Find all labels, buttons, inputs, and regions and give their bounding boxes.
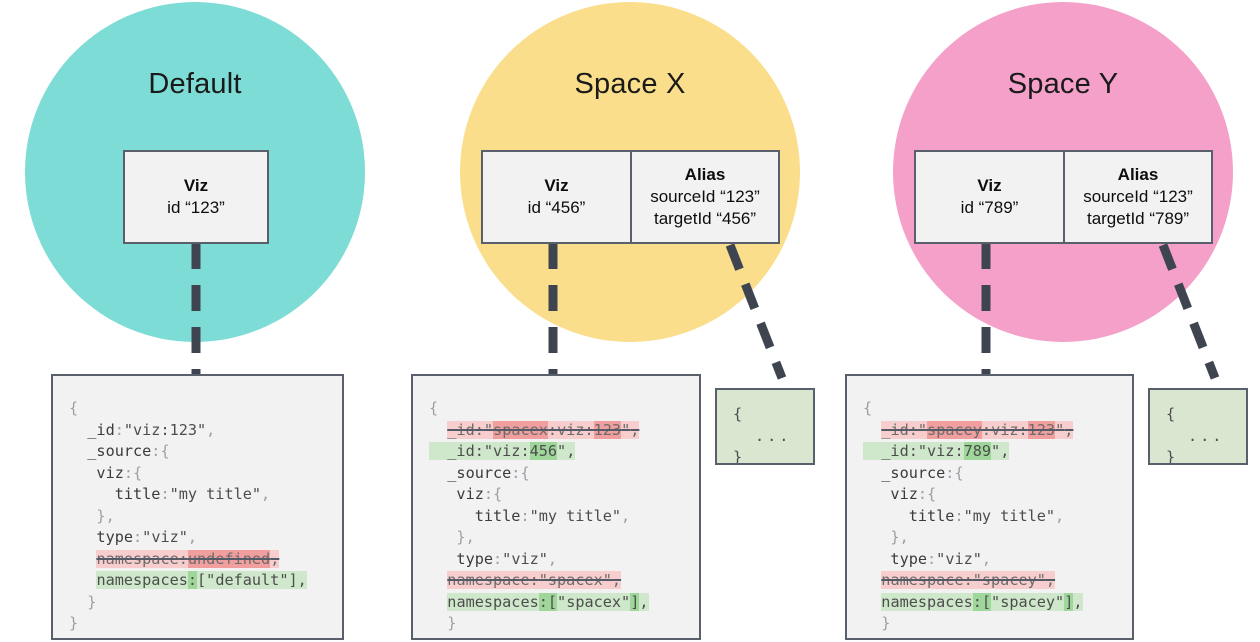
code-line: }, (413, 527, 699, 549)
code-token: : (179, 550, 188, 568)
alias-ellipsis: ... (1150, 426, 1246, 448)
code-token: "spacex" (539, 571, 612, 589)
code-token: " (484, 421, 493, 439)
code-line: }, (847, 527, 1132, 549)
code-token: : (160, 485, 169, 503)
code-line: } (53, 613, 342, 635)
code-line: namespaces:["default"], (53, 570, 342, 592)
code-token: "spacey" (991, 593, 1064, 611)
code-token: title (863, 507, 954, 525)
code-token: _id (881, 421, 908, 439)
entity-cell-alias[interactable]: Alias sourceId “123” targetId “789” (1063, 152, 1211, 242)
entity-detail-id: id “456” (528, 197, 586, 219)
code-token: : (964, 571, 973, 589)
code-token: , (621, 507, 630, 525)
code-token: namespaces (881, 593, 972, 611)
code-token: " (1055, 421, 1064, 439)
diagram-canvas: Default Space X Space Y Viz id “123” Viz… (0, 0, 1260, 642)
code-token: , (1073, 593, 1082, 611)
code-line: _id:"viz:456", (413, 441, 699, 463)
code-token: : (530, 571, 539, 589)
entity-detail-id: id “789” (961, 197, 1019, 219)
code-token: } (863, 614, 890, 632)
code-token: "viz" (142, 528, 188, 546)
code-token: , (261, 485, 270, 503)
entity-cell-viz[interactable]: Viz id “789” (916, 152, 1063, 242)
code-line: namespace:undefined, (53, 549, 342, 571)
code-token: : (909, 442, 918, 460)
entity-box-spacey[interactable]: Viz id “789” Alias sourceId “123” target… (914, 150, 1213, 244)
alias-open-brace: { (717, 404, 813, 426)
code-token: "viz: (484, 442, 530, 460)
code-token: ["default"] (197, 571, 298, 589)
entity-detail-id: id “123” (167, 197, 225, 219)
code-token: title (429, 507, 520, 525)
alias-doc-spacey[interactable]: { ... } (1148, 388, 1248, 465)
code-token: " (991, 442, 1000, 460)
code-token: }, (863, 528, 909, 546)
code-token (863, 593, 881, 611)
code-token: _id (863, 442, 909, 460)
code-token: } (429, 614, 456, 632)
code-line: type:"viz", (847, 549, 1132, 571)
entity-detail-targetid: targetId “789” (1087, 208, 1189, 230)
code-line: namespaces:["spacey"], (847, 592, 1132, 614)
code-token: , (630, 421, 639, 439)
code-token: title (69, 485, 160, 503)
code-token: , (1055, 507, 1064, 525)
code-line: _id:"viz:123", (53, 420, 342, 442)
code-line: namespaces:["spacex"], (413, 592, 699, 614)
code-line: _source:{ (53, 441, 342, 463)
code-token: :{ (124, 464, 142, 482)
code-token: , (270, 550, 279, 568)
code-token: : (539, 593, 548, 611)
code-token: : (188, 571, 197, 589)
code-token: _source (69, 442, 151, 460)
code-line: _id:"viz:789", (847, 441, 1132, 463)
code-token: , (1064, 421, 1073, 439)
code-token: _source (429, 464, 511, 482)
code-token: type (429, 550, 493, 568)
code-token: , (206, 421, 215, 439)
code-token: : (954, 507, 963, 525)
code-token: spacey (927, 421, 982, 439)
code-token: : (133, 528, 142, 546)
code-line: }, (53, 506, 342, 528)
code-line: _id:"spacex:viz:123", (413, 420, 699, 442)
code-token (863, 421, 881, 439)
space-label-spacex: Space X (460, 68, 800, 101)
code-line: namespace:"spacey", (847, 570, 1132, 592)
code-token: namespace (96, 550, 178, 568)
code-token: " (621, 421, 630, 439)
code-token: : (909, 421, 918, 439)
code-token: , (982, 550, 991, 568)
code-line: { (847, 398, 1132, 420)
code-token: : (927, 550, 936, 568)
entity-title-viz: Viz (544, 175, 568, 196)
code-token (429, 421, 447, 439)
code-block-default[interactable]: { _id:"viz:123", _source:{ viz:{ title:"… (51, 374, 344, 640)
code-line: { (413, 398, 699, 420)
entity-box-default[interactable]: Viz id “123” (123, 150, 269, 244)
code-token: 123 (1028, 421, 1055, 439)
code-token: , (639, 593, 648, 611)
code-line: viz:{ (847, 484, 1132, 506)
code-token: viz (69, 464, 124, 482)
entity-detail-targetid: targetId “456” (654, 208, 756, 230)
code-line: } (847, 635, 1132, 641)
code-token: : (493, 550, 502, 568)
code-token: :{ (484, 485, 502, 503)
entity-detail-sourceid: sourceId “123” (650, 186, 760, 208)
code-line: } (413, 613, 699, 635)
code-token: namespace (447, 571, 529, 589)
space-label-default: Default (25, 68, 365, 101)
code-token: ] (630, 593, 639, 611)
code-token: :viz: (982, 421, 1028, 439)
code-token: :{ (945, 464, 963, 482)
code-token: spacex (493, 421, 548, 439)
space-label-spacey: Space Y (893, 68, 1233, 101)
code-token: } (69, 614, 78, 632)
alias-doc-spacex[interactable]: { ... } (715, 388, 815, 465)
code-line: title:"my title", (53, 484, 342, 506)
code-line: _id:"spacey:viz:123", (847, 420, 1132, 442)
alias-close-brace: } (717, 447, 813, 465)
code-token: : (520, 507, 529, 525)
code-line: } (413, 635, 699, 641)
code-token: }, (429, 528, 475, 546)
alias-close-brace: } (1150, 447, 1246, 465)
code-token: : (973, 593, 982, 611)
code-token: } (863, 636, 872, 641)
code-token: , (1000, 442, 1009, 460)
code-line: viz:{ (413, 484, 699, 506)
code-token: { (863, 399, 872, 417)
code-block-spacex[interactable]: { _id:"spacex:viz:123", _id:"viz:456", _… (411, 374, 701, 640)
entity-cell-viz[interactable]: Viz id “456” (483, 152, 630, 242)
code-token: namespace (881, 571, 963, 589)
code-token: "spacey" (973, 571, 1046, 589)
code-token (69, 571, 96, 589)
code-token: "my title" (964, 507, 1055, 525)
code-token: , (612, 571, 621, 589)
code-line: _source:{ (413, 463, 699, 485)
code-token: _id (69, 421, 115, 439)
code-token: "my title" (530, 507, 621, 525)
entity-title-viz: Viz (977, 175, 1001, 196)
code-token: "my title" (170, 485, 261, 503)
code-token: 456 (530, 442, 557, 460)
code-token: ] (1064, 593, 1073, 611)
code-line: } (847, 613, 1132, 635)
code-token: : (475, 442, 484, 460)
code-token: , (298, 571, 307, 589)
code-token: , (188, 528, 197, 546)
code-token: }, (69, 507, 115, 525)
code-token (69, 550, 96, 568)
code-token: " (557, 442, 566, 460)
code-line: type:"viz", (413, 549, 699, 571)
code-token: } (69, 593, 96, 611)
code-token: , (1046, 571, 1055, 589)
code-token: , (548, 550, 557, 568)
code-token: :viz: (548, 421, 594, 439)
entity-title-alias: Alias (1118, 164, 1159, 185)
code-token: :{ (151, 442, 169, 460)
code-line: title:"my title", (847, 506, 1132, 528)
code-line: } (53, 592, 342, 614)
code-token (429, 593, 447, 611)
code-token: " (918, 421, 927, 439)
code-token: _id (447, 421, 474, 439)
code-line: namespace:"spacex", (413, 570, 699, 592)
code-token: viz (429, 485, 484, 503)
code-token: "spacex" (557, 593, 630, 611)
entity-box-spacex[interactable]: Viz id “456” Alias sourceId “123” target… (481, 150, 780, 244)
code-token: namespaces (96, 571, 187, 589)
code-token: type (69, 528, 133, 546)
alias-ellipsis: ... (717, 426, 813, 448)
code-token: { (429, 399, 438, 417)
code-token: , (566, 442, 575, 460)
code-token: [ (548, 593, 557, 611)
code-token: "viz" (936, 550, 982, 568)
code-token: "viz" (502, 550, 548, 568)
code-token: } (429, 636, 438, 641)
code-token: :{ (918, 485, 936, 503)
entity-cell-viz[interactable]: Viz id “123” (125, 152, 267, 242)
code-line: title:"my title", (413, 506, 699, 528)
entity-cell-alias[interactable]: Alias sourceId “123” targetId “456” (630, 152, 778, 242)
code-token: viz (863, 485, 918, 503)
code-token: undefined (188, 550, 270, 568)
code-line: viz:{ (53, 463, 342, 485)
code-token: "viz: (918, 442, 964, 460)
entity-detail-sourceid: sourceId “123” (1083, 186, 1193, 208)
code-token: : (475, 421, 484, 439)
code-token: :{ (511, 464, 529, 482)
code-block-spacey[interactable]: { _id:"spacey:viz:123", _id:"viz:789", _… (845, 374, 1134, 640)
code-token: namespaces (447, 593, 538, 611)
code-token (429, 571, 447, 589)
code-token: "viz:123" (124, 421, 206, 439)
code-token: { (69, 399, 78, 417)
alias-open-brace: { (1150, 404, 1246, 426)
code-token (863, 571, 881, 589)
code-token: 789 (964, 442, 991, 460)
code-token: _source (863, 464, 945, 482)
code-token: 123 (594, 421, 621, 439)
code-line: { (53, 398, 342, 420)
code-line: _source:{ (847, 463, 1132, 485)
code-token: type (863, 550, 927, 568)
code-token: _id (429, 442, 475, 460)
entity-title-viz: Viz (184, 175, 208, 196)
code-line: type:"viz", (53, 527, 342, 549)
code-token: [ (982, 593, 991, 611)
entity-title-alias: Alias (685, 164, 726, 185)
code-token: : (115, 421, 124, 439)
